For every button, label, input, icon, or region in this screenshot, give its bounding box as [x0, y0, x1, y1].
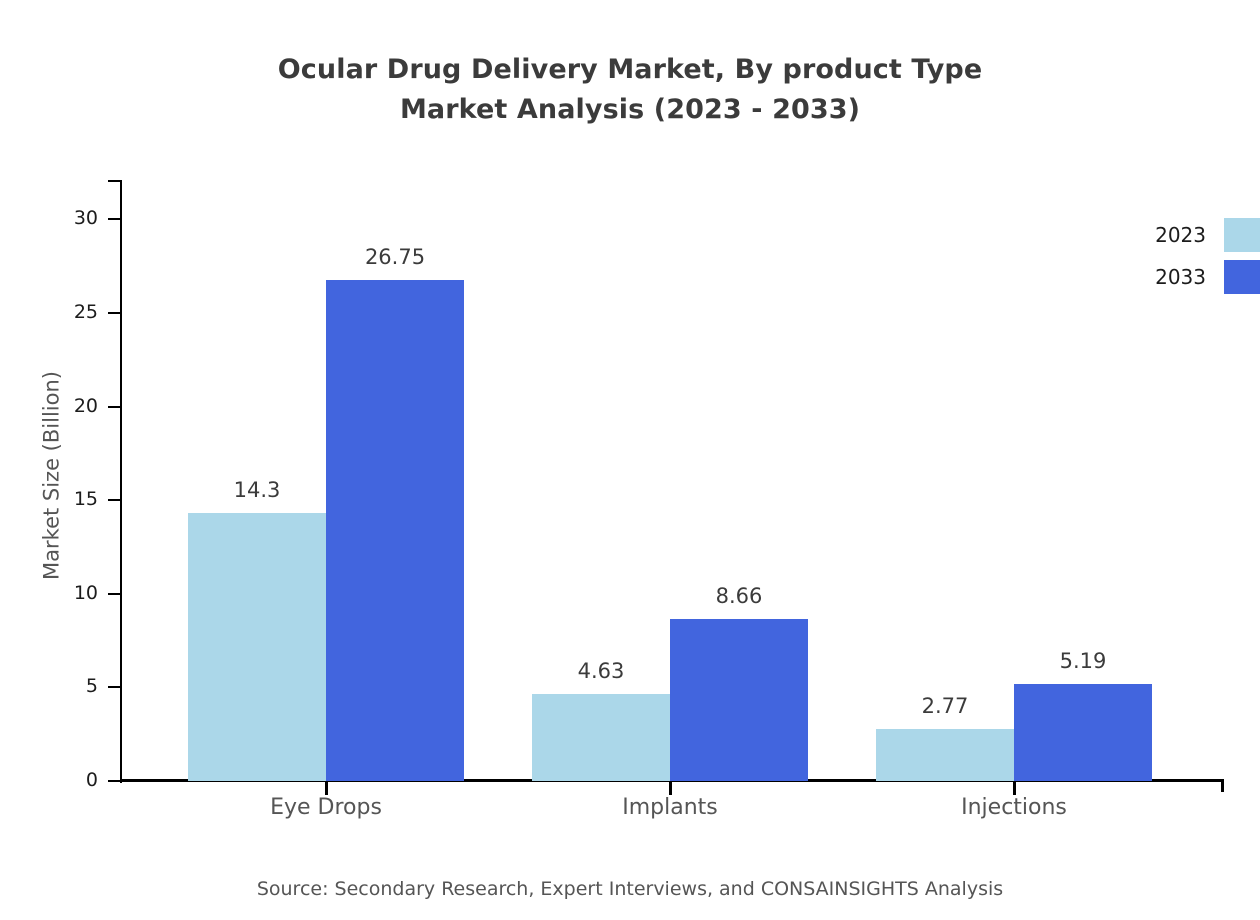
source-note: Source: Secondary Research, Expert Inter… [0, 878, 1260, 900]
legend-swatch [1224, 218, 1260, 252]
bar[interactable] [670, 619, 808, 781]
legend-label: 2023 [1120, 225, 1206, 245]
y-axis-title: Market Size (Billion) [42, 176, 63, 776]
bar-value-label: 8.66 [659, 586, 819, 607]
y-axis-tick-label: 30 [74, 209, 98, 228]
chart-title-line-1: Ocular Drug Delivery Market, By product … [278, 54, 983, 85]
bar[interactable] [326, 280, 464, 781]
y-axis-tick-label: 10 [74, 584, 98, 603]
y-axis-tick-label: 25 [74, 303, 98, 322]
legend-swatch [1224, 260, 1260, 294]
legend: 20232033 [1120, 218, 1260, 298]
x-axis-tick-label: Injections [864, 795, 1164, 821]
y-axis-tick [108, 780, 122, 782]
bar-value-label: 14.3 [177, 480, 337, 501]
x-axis-tick [325, 782, 328, 795]
y-axis-tick-label: 0 [86, 771, 98, 790]
x-axis-tick [1013, 782, 1016, 795]
bar[interactable] [532, 694, 670, 781]
legend-item[interactable]: 2033 [1120, 260, 1260, 294]
y-axis-tick-label: 5 [86, 677, 98, 696]
x-axis-tick-label: Eye Drops [176, 795, 476, 821]
bar-value-label: 5.19 [1003, 651, 1163, 672]
y-axis-tick [108, 593, 122, 595]
y-axis-tick [108, 406, 122, 408]
x-axis-tick [669, 782, 672, 795]
y-axis-tick [108, 499, 122, 501]
plot-area: 14.326.754.638.662.775.19 [122, 180, 1222, 781]
chart-title-line-2: Market Analysis (2023 - 2033) [0, 90, 1260, 130]
bar[interactable] [1014, 684, 1152, 781]
legend-item[interactable]: 2023 [1120, 218, 1260, 252]
chart-title: Ocular Drug Delivery Market, By product … [0, 50, 1260, 130]
bar[interactable] [876, 729, 1014, 781]
y-axis-tick-label: 15 [74, 490, 98, 509]
y-axis-tick [108, 312, 122, 314]
y-axis-top-cap [108, 180, 122, 182]
bar-chart: Ocular Drug Delivery Market, By product … [0, 0, 1260, 920]
bar-value-label: 26.75 [315, 247, 475, 268]
x-axis-tick-label: Implants [520, 795, 820, 821]
y-axis-tick [108, 686, 122, 688]
y-axis-tick [108, 218, 122, 220]
bar[interactable] [188, 513, 326, 781]
bar-value-label: 4.63 [521, 661, 681, 682]
y-axis-tick-label: 20 [74, 397, 98, 416]
legend-label: 2033 [1120, 267, 1206, 287]
bar-value-label: 2.77 [865, 696, 1025, 717]
